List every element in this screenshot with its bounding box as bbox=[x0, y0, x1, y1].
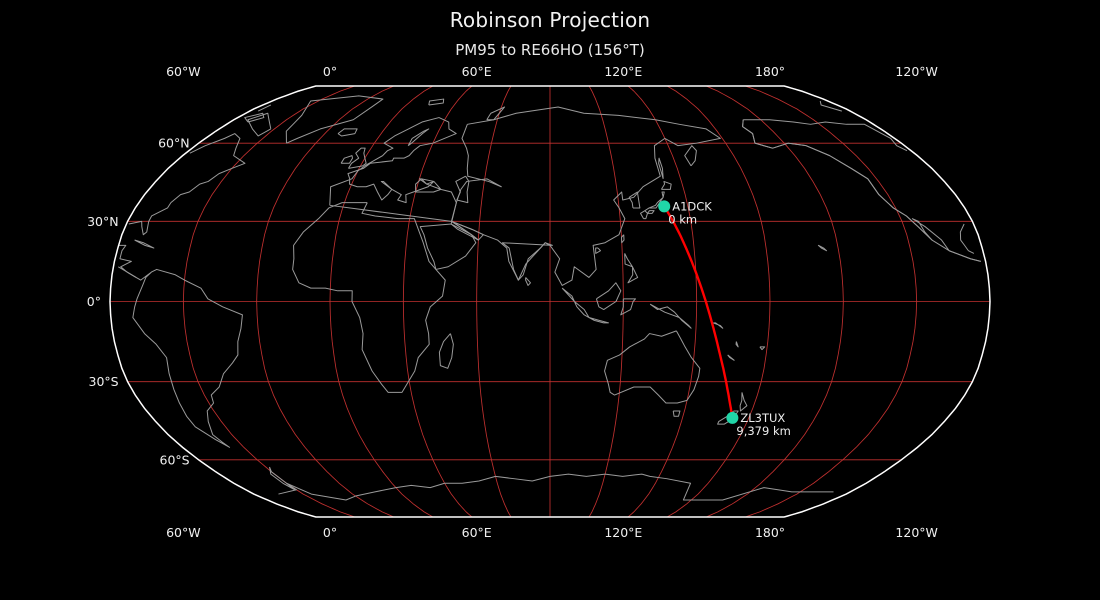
lon-tick-label: 0° bbox=[323, 64, 337, 79]
lon-tick-label: 120°E bbox=[604, 64, 642, 79]
station-dot[interactable] bbox=[726, 412, 738, 424]
graticule-layer bbox=[110, 86, 990, 517]
station-distance: 0 km bbox=[668, 212, 697, 226]
lat-tick-label: 60°N bbox=[158, 136, 190, 151]
station-markers[interactable]: A1DCK0 kmZL3TUX9,379 km bbox=[658, 199, 791, 437]
lon-tick-label: 60°W bbox=[166, 64, 201, 79]
station-distance: 9,379 km bbox=[736, 424, 790, 438]
lon-tick-label: 120°E bbox=[604, 525, 642, 540]
lon-tick-label: 180° bbox=[755, 525, 785, 540]
lon-tick-label: 0° bbox=[323, 525, 337, 540]
lat-tick-label: 30°S bbox=[89, 374, 119, 389]
lon-tick-label: 120°W bbox=[895, 525, 937, 540]
lon-tick-label: 120°W bbox=[895, 64, 937, 79]
station-callsign: A1DCK bbox=[672, 199, 712, 213]
lon-tick-label: 60°W bbox=[166, 525, 201, 540]
station-marker[interactable]: A1DCK0 km bbox=[658, 199, 712, 226]
lon-tick-label: 60°E bbox=[462, 525, 492, 540]
lat-tick-label: 30°N bbox=[87, 214, 119, 229]
coastline-layer bbox=[118, 96, 980, 500]
world-map-canvas[interactable]: A1DCK0 kmZL3TUX9,379 km 0°0°60°E60°E120°… bbox=[0, 0, 1100, 600]
station-callsign: ZL3TUX bbox=[740, 411, 785, 425]
lat-tick-label: 60°S bbox=[160, 452, 190, 467]
station-dot[interactable] bbox=[658, 200, 670, 212]
lon-tick-label: 180° bbox=[755, 64, 785, 79]
lat-tick-label: 0° bbox=[87, 294, 101, 309]
station-marker[interactable]: ZL3TUX9,379 km bbox=[726, 411, 790, 438]
lon-tick-label: 60°E bbox=[462, 64, 492, 79]
map-figure: Robinson Projection PM95 to RE66HO (156°… bbox=[0, 0, 1100, 600]
